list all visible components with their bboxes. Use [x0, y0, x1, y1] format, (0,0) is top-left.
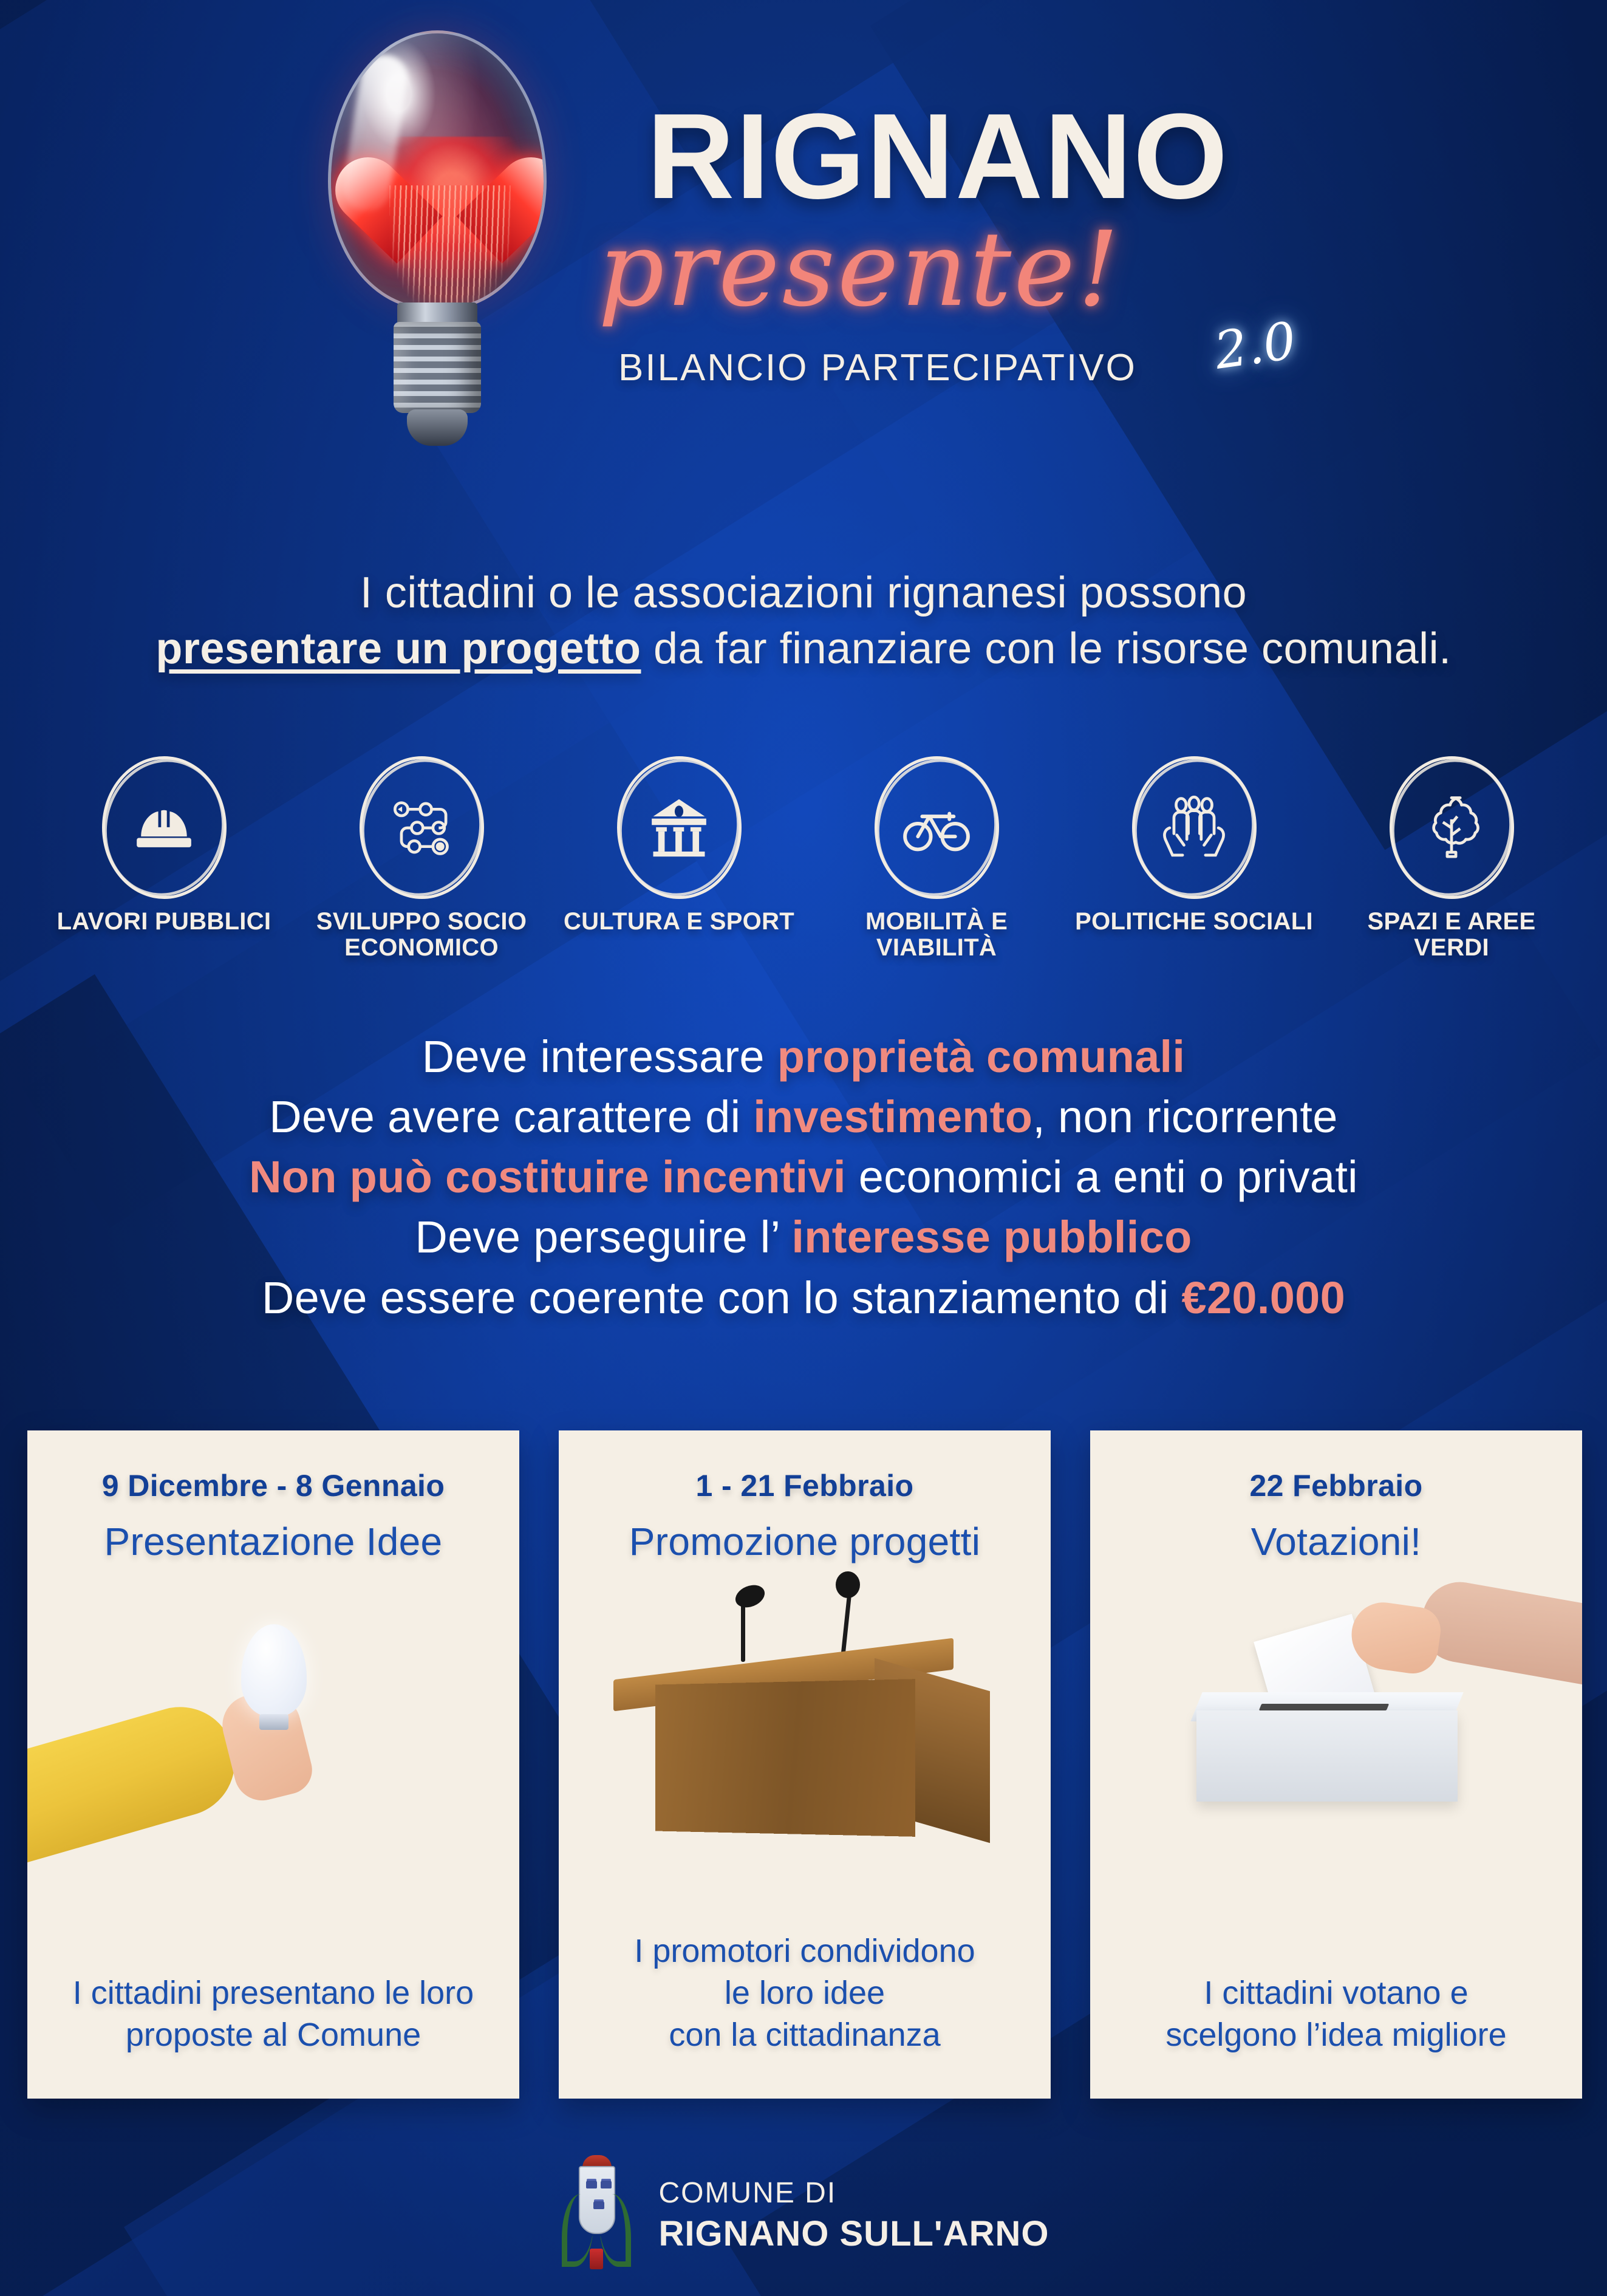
card-date: 9 Dicembre - 8 Gennaio [102, 1468, 445, 1503]
rule-text: Deve interessare [422, 1031, 777, 1082]
brand-title: RIGNANO [647, 97, 1229, 216]
category-label: CULTURA E SPORT [564, 909, 794, 935]
rule-highlight: €20.000 [1182, 1273, 1346, 1323]
card-date: 1 - 21 Febbraio [696, 1468, 914, 1503]
rule-highlight: proprietà comunali [777, 1031, 1186, 1082]
hand-holding-lightbulb-image [27, 1568, 519, 1829]
rule-item: Non può costituire incentivi economici a… [0, 1147, 1607, 1207]
intro-line-1: I cittadini o le associazioni rignanesi … [0, 565, 1607, 621]
municipal-coat-of-arms-icon [558, 2158, 635, 2273]
card-presentazione-idee[interactable]: 9 Dicembre - 8 Gennaio Presentazione Ide… [27, 1430, 519, 2099]
rule-item: Deve avere carattere di investimento, no… [0, 1087, 1607, 1147]
intro-line-2: presentare un progetto da far finanziare… [0, 621, 1607, 677]
category-label: LAVORI PUBBLICI [57, 909, 271, 935]
category-cultura-e-sport[interactable]: CULTURA E SPORT [558, 756, 800, 935]
rule-text: Deve perseguire l’ [415, 1212, 791, 1262]
rule-highlight: investimento [753, 1092, 1032, 1142]
card-title: Votazioni! [1251, 1519, 1422, 1564]
footer-text-block: COMUNE DI RIGNANO SULL'ARNO [659, 2176, 1049, 2254]
poster-footer: COMUNE DI RIGNANO SULL'ARNO [0, 2158, 1607, 2273]
category-label: SVILUPPO SOCIO ECONOMICO [316, 909, 527, 961]
card-description: I promotori condividono le loro idee con… [559, 1930, 1051, 2056]
category-label: MOBILITÀ E VIABILITÀ [865, 909, 1008, 961]
bicycle-icon [875, 756, 999, 899]
hands-holding-people-icon [1132, 756, 1257, 899]
hand-casting-ballot-image [1090, 1568, 1582, 1829]
card-description: I cittadini presentano le loro proposte … [27, 1972, 519, 2056]
network-flow-icon [360, 756, 484, 899]
rule-text-post: , non ricorrente [1032, 1092, 1338, 1142]
category-label: SPAZI E AREE VERDI [1330, 909, 1573, 961]
rule-item: Deve essere coerente con lo stanziamento… [0, 1268, 1607, 1328]
category-label: POLITICHE SOCIALI [1075, 909, 1313, 935]
rule-highlight: Non può costituire incentivi [249, 1152, 846, 1202]
category-politiche-sociali[interactable]: POLITICHE SOCIALI [1073, 756, 1315, 935]
footer-line-1: COMUNE DI [659, 2176, 1049, 2210]
rule-text: Deve avere carattere di [269, 1092, 753, 1142]
timeline-cards: 9 Dicembre - 8 Gennaio Presentazione Ide… [27, 1430, 1582, 2105]
lightbulb-heart-icon [316, 18, 559, 510]
brand-subtitle: BILANCIO PARTECIPATIVO [618, 346, 1137, 389]
brand-version-badge: 2.0 [1211, 310, 1300, 381]
intro-emphasis: presentare un progetto [155, 624, 641, 673]
intro-block: I cittadini o le associazioni rignanesi … [0, 565, 1607, 677]
card-description: I cittadini votano e scelgono l’idea mig… [1090, 1972, 1582, 2056]
category-lavori-pubblici[interactable]: LAVORI PUBBLICI [43, 756, 285, 935]
poster-root: RIGNANO presente! BILANCIO PARTECIPATIVO… [0, 0, 1607, 2296]
podium-with-microphones-image [559, 1568, 1051, 1829]
rules-block: Deve interessare proprietà comunali Deve… [0, 1027, 1607, 1328]
category-row: LAVORI PUBBLICI SVILUPPO SOCIO ECONOMICO [43, 756, 1573, 961]
card-title: Promozione progetti [629, 1519, 980, 1564]
card-date: 22 Febbraio [1249, 1468, 1422, 1503]
rule-text-post: economici a enti o privati [846, 1152, 1358, 1202]
intro-line-2-rest: da far finanziare con le risorse comunal… [641, 624, 1451, 673]
tree-icon [1390, 756, 1514, 899]
footer-line-2: RIGNANO SULL'ARNO [659, 2213, 1049, 2254]
hard-hat-icon [102, 756, 227, 899]
brand-script-word: presente! [598, 210, 1121, 330]
rule-highlight: interesse pubblico [791, 1212, 1192, 1262]
classical-building-icon [617, 756, 742, 899]
card-title: Presentazione Idee [104, 1519, 443, 1564]
category-spazi-e-aree-verdi[interactable]: SPAZI E AREE VERDI [1330, 756, 1573, 961]
category-mobilita-e-viabilita[interactable]: MOBILITÀ E VIABILITÀ [815, 756, 1058, 961]
card-promozione-progetti[interactable]: 1 - 21 Febbraio Promozione progetti I pr… [559, 1430, 1051, 2099]
category-sviluppo-socio-economico[interactable]: SVILUPPO SOCIO ECONOMICO [300, 756, 543, 961]
card-votazioni[interactable]: 22 Febbraio Votazioni! I cittadini votan… [1090, 1430, 1582, 2099]
rule-item: Deve interessare proprietà comunali [0, 1027, 1607, 1087]
rule-text: Deve essere coerente con lo stanziamento… [262, 1273, 1182, 1323]
poster-header: RIGNANO presente! BILANCIO PARTECIPATIVO… [0, 0, 1607, 547]
rule-item: Deve perseguire l’ interesse pubblico [0, 1207, 1607, 1267]
